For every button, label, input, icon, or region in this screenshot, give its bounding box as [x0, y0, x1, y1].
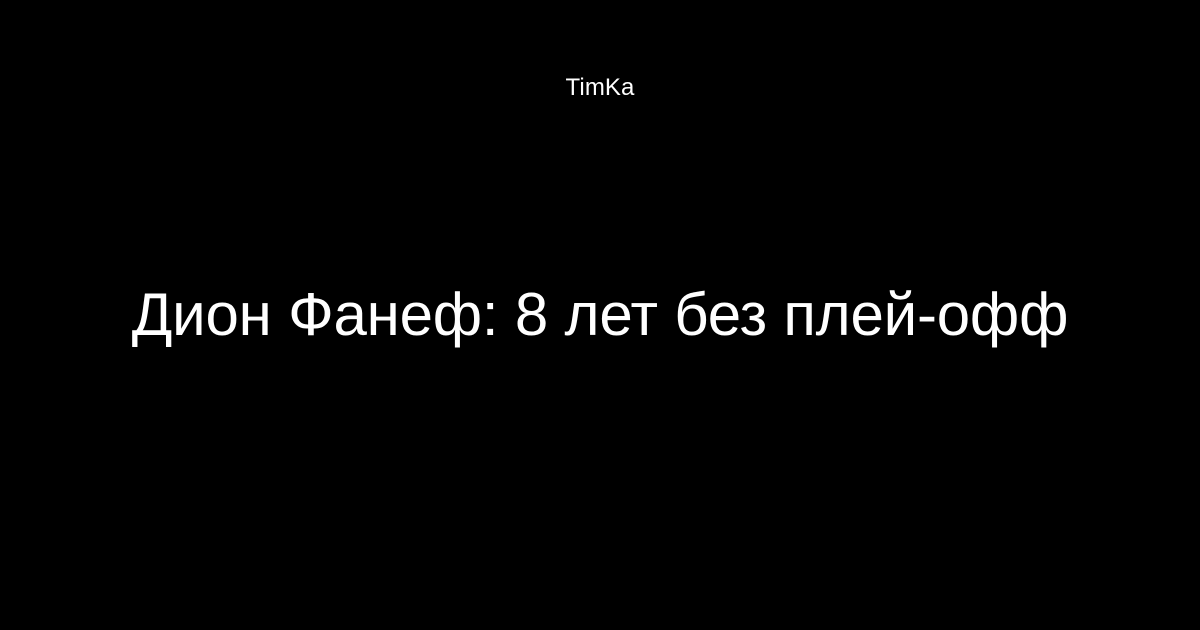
article-headline: Дион Фанеф: 8 лет без плей-офф: [132, 279, 1068, 351]
social-share-card: TimKa Дион Фанеф: 8 лет без плей-офф: [0, 0, 1200, 630]
headline-container: Дион Фанеф: 8 лет без плей-офф: [0, 0, 1200, 630]
